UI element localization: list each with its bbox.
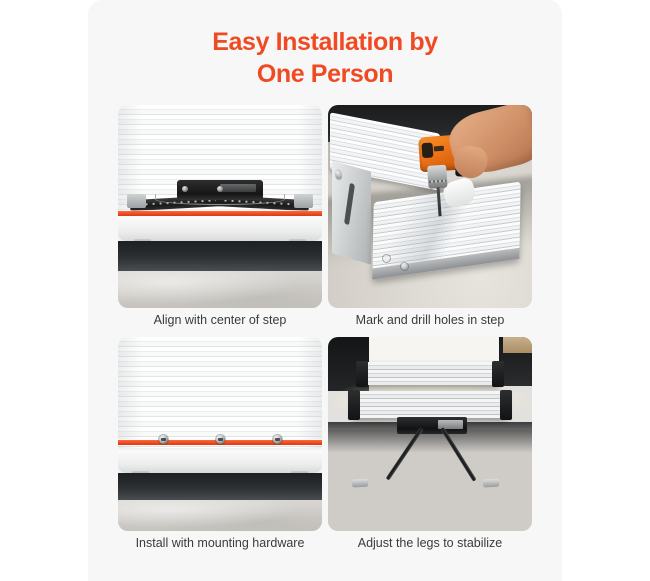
rv-step-with-three-bolts-installed-photo: [118, 337, 322, 531]
page-title-line-2: One Person: [88, 59, 562, 91]
riser-knob: [335, 169, 342, 181]
concrete-floor: [118, 271, 322, 308]
hand-drilling-holes-in-aluminum-step-photo: [328, 105, 532, 308]
bracket-foot-right: [294, 194, 314, 208]
mounting-bolt-2: [216, 435, 225, 444]
step-image-4: [328, 337, 532, 531]
step-item-2: Mark and drill holes in step: [328, 105, 532, 333]
mounting-bolt-3: [273, 435, 282, 444]
ribbed-step-face: [118, 337, 322, 448]
step-caption-3: Install with mounting hardware: [118, 536, 322, 551]
step-image-3: [118, 337, 322, 531]
tread-end-cap-left: [356, 361, 367, 387]
page-title-line-1: Easy Installation by: [88, 27, 562, 59]
tread-end-cap-left: [348, 390, 360, 420]
bracket-foot-left: [127, 194, 147, 208]
upper-step-tread: [361, 362, 500, 385]
drill-vent: [421, 142, 433, 158]
product-feature-card-page: Easy Installation by One Person: [0, 0, 650, 581]
under-step-shadow: [118, 473, 322, 500]
step-item-1: Align with center of step: [118, 105, 322, 333]
tread-end-cap-right: [492, 361, 503, 387]
orange-alignment-stripe: [118, 211, 322, 216]
aluminum-steps-with-adjustable-support-legs-photo: [328, 337, 532, 531]
step-caption-4: Adjust the legs to stabilize: [328, 536, 532, 551]
step-side-riser: [332, 160, 371, 264]
drill-chuck: [427, 165, 448, 189]
feature-card: Easy Installation by One Person: [88, 0, 562, 581]
bracket-plate: [220, 184, 256, 192]
bracket-bolt-2: [217, 186, 223, 192]
page-title: Easy Installation by One Person: [88, 27, 562, 90]
tread-end-cap-right: [500, 390, 512, 420]
bracket-bolt-1: [182, 186, 188, 192]
concrete-floor: [118, 500, 322, 531]
leg-mounting-hub: [397, 417, 466, 434]
riser-slot: [344, 182, 355, 225]
drill-brand-mark: [434, 147, 444, 153]
mounting-hardware-row: [118, 435, 322, 445]
lower-step-tread: [352, 391, 507, 418]
step-nose-edge: [118, 217, 322, 241]
wood-trim: [503, 337, 532, 353]
step-image-1: [118, 105, 322, 308]
under-step-shadow: [118, 241, 322, 271]
installation-steps-grid: Align with center of step: [118, 105, 532, 555]
support-leg-foot-left: [352, 478, 369, 487]
step-item-4: Adjust the legs to stabilize: [328, 337, 532, 559]
step-caption-1: Align with center of step: [118, 313, 322, 328]
step-image-2: [328, 105, 532, 308]
support-leg-foot-right: [483, 478, 500, 487]
step-caption-2: Mark and drill holes in step: [328, 313, 532, 328]
step-nose-edge: [118, 450, 322, 473]
mounting-bracket: [130, 180, 310, 212]
step-item-3: Install with mounting hardware: [118, 337, 322, 559]
rv-step-with-mounting-bracket-aligned-photo: [118, 105, 322, 308]
mounting-bolt-1: [159, 435, 168, 444]
